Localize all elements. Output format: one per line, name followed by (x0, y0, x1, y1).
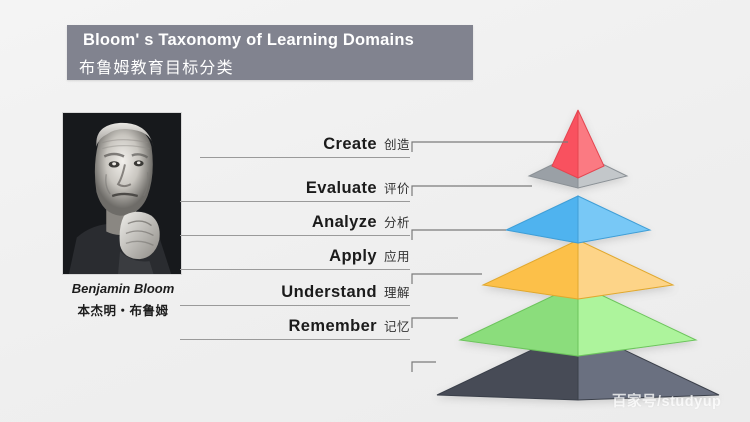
label-create-en: Create (323, 135, 377, 153)
title-bar: Bloom' s Taxonomy of Learning Domains 布鲁… (67, 25, 473, 80)
pyramid-graphic (420, 100, 730, 410)
portrait-illustration (63, 113, 181, 274)
slide-canvas: Bloom' s Taxonomy of Learning Domains 布鲁… (0, 0, 750, 422)
label-evaluate[interactable]: Evaluate评价 (180, 178, 410, 202)
label-apply-zh: 应用 (384, 250, 410, 264)
label-remember[interactable]: Remember记忆 (180, 316, 410, 340)
bloom-pyramid (420, 100, 730, 410)
label-evaluate-en: Evaluate (306, 179, 377, 197)
label-analyze-en: Analyze (312, 213, 377, 231)
watermark: 百家号/studyup (612, 390, 721, 411)
label-remember-en: Remember (288, 317, 377, 335)
pyramid-tier-apply[interactable] (483, 240, 673, 299)
label-apply[interactable]: Apply应用 (180, 246, 410, 270)
page-title-zh: 布鲁姆教育目标分类 (79, 54, 234, 78)
pyramid-tiers (437, 110, 719, 400)
label-understand-zh: 理解 (384, 286, 410, 300)
label-remember-zh: 记忆 (384, 320, 410, 334)
pyramid-tier-analyze[interactable] (506, 196, 650, 243)
label-apply-en: Apply (329, 247, 377, 265)
page-title-en: Bloom' s Taxonomy of Learning Domains (83, 31, 414, 50)
portrait-photo (62, 112, 182, 275)
label-understand[interactable]: Understand理解 (180, 282, 410, 306)
label-analyze[interactable]: Analyze分析 (180, 212, 410, 236)
label-create-zh: 创造 (384, 138, 410, 152)
portrait-caption-en: Benjamin Bloom (62, 281, 184, 296)
label-analyze-zh: 分析 (384, 216, 410, 230)
label-understand-en: Understand (281, 283, 377, 301)
pyramid-tier-create[interactable] (552, 110, 604, 178)
portrait-caption-zh: 本杰明・布鲁姆 (62, 300, 184, 319)
label-evaluate-zh: 评价 (384, 182, 410, 196)
label-create[interactable]: Create创造 (200, 134, 410, 158)
